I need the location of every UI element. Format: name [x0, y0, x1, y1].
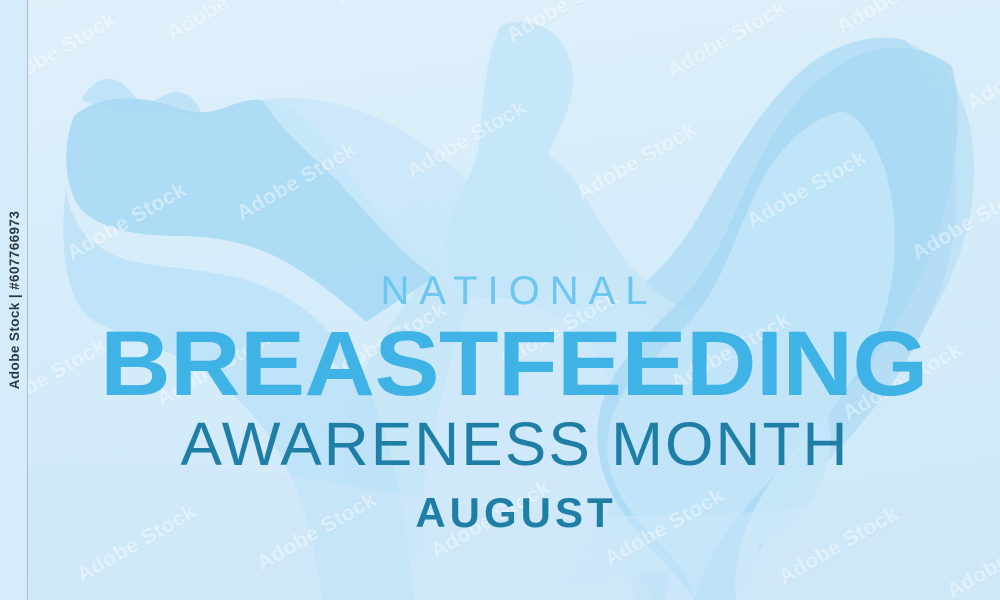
headline-block: NATIONAL BREASTFEEDING AWARENESS MONTH A… [28, 268, 1000, 538]
subtitle-text: AWARENESS MONTH [18, 412, 1000, 476]
stock-credit-rail: Adobe Stock | #607766973 [0, 0, 28, 600]
stock-credit-label: Adobe Stock | #607766973 [0, 0, 28, 600]
poster-canvas: Adobe Stock Adobe Stock Adobe Stock Adob… [0, 0, 1000, 600]
page-title: BREASTFEEDING [0, 318, 1000, 410]
rail-divider [27, 0, 28, 600]
month-text: AUGUST [28, 488, 1000, 538]
eyebrow-text: NATIONAL [28, 268, 1000, 314]
